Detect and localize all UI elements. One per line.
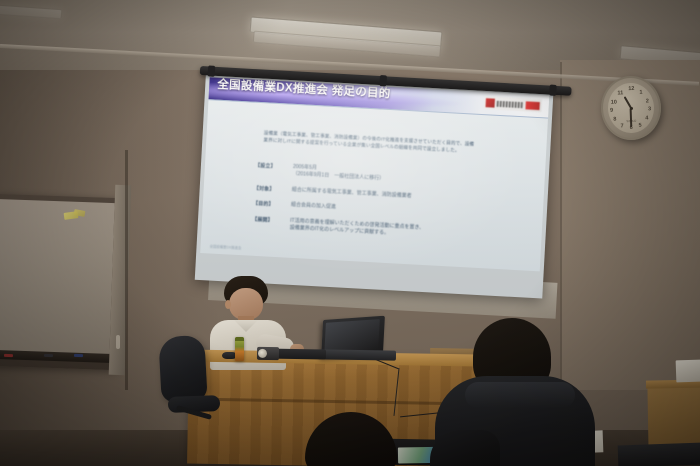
screen-bracket [208, 65, 216, 76]
projection-screen: 全国設備業DX推進会 発足の目的 設備業（電気工事業、管工事業、消防設備業）の今… [195, 72, 554, 299]
blue-marker-icon [74, 354, 83, 357]
audience-shoulder-highlight [465, 382, 575, 408]
wall-hook-icon [116, 335, 120, 349]
screen-bracket [549, 85, 557, 96]
audience-head [305, 412, 397, 466]
clock-numeral: 4 [645, 115, 648, 121]
door-edge [125, 150, 128, 390]
audience-member-lower-right [430, 430, 500, 466]
slide-row-key: 【展開】 [252, 215, 291, 231]
laptop-base [318, 349, 396, 360]
red-marker-icon [4, 354, 13, 357]
slide-footer-note: 全国設備業DX推進会 [209, 243, 241, 250]
slide-paragraph: 設備業（電気工事業、管工事業、消防設備業）の今後のIT化推進を支援させていただく… [263, 129, 478, 155]
presenter-ear [225, 300, 231, 309]
whiteboard-surface [0, 199, 115, 358]
clock-numeral: 8 [613, 117, 616, 123]
black-marker-icon [44, 354, 53, 357]
clock-face: 12 1 2 3 4 5 6 7 8 9 10 11 SEIKO [607, 82, 655, 134]
slide-row-key: 【対象】 [254, 184, 292, 193]
clock-numeral: 1 [639, 90, 642, 96]
clock-numeral: 2 [646, 98, 649, 104]
clock-numeral: 9 [610, 108, 613, 114]
slide-row-value: 2005年5月 （2016年9月1日 一般社団法人に移行） [292, 164, 504, 189]
screen-bracket [379, 75, 387, 86]
slide-row-value: 組合に所属する電気工事業、管工事業、消防設備業者 [292, 186, 504, 204]
slide-row-key: 【設立】 [254, 162, 293, 178]
slide-detail-rows: 【設立】 2005年5月 （2016年9月1日 一般社団法人に移行） 【対象】 … [251, 162, 505, 251]
clock-numeral: 12 [628, 86, 634, 92]
audience-member-center [295, 412, 415, 466]
clock-center-pin [629, 106, 632, 109]
white-object-on-cabinet [676, 360, 700, 383]
laptop-screen-glare [324, 319, 379, 353]
clock-minute-hand [630, 108, 632, 127]
slide-row-value: IT活用の意義を理解いただくための啓発活動に重点を置き、 設備業界のIT化のレベ… [290, 217, 502, 242]
slide-row: 【展開】 IT活用の意義を理解いただくための啓発活動に重点を置き、 設備業界のI… [252, 215, 502, 242]
slide-row-value: 組合会員の加入促進 [291, 202, 503, 220]
drink-bottle [235, 337, 244, 361]
clock-numeral: 11 [617, 90, 623, 96]
presentation-room-photo: 全国設備業DX推進会 発足の目的 設備業（電気工事業、管工事業、消防設備業）の今… [0, 0, 700, 466]
slide-body: 設備業（電気工事業、管工事業、消防設備業）の今後のIT化推進を支援させていただく… [200, 77, 549, 271]
clock-numeral: 3 [648, 106, 651, 112]
projector [257, 347, 279, 360]
clock-numeral: 7 [621, 123, 624, 129]
clock-numeral: 5 [639, 123, 642, 129]
bottle-cap [235, 337, 244, 341]
slide-row: 【設立】 2005年5月 （2016年9月1日 一般社団法人に移行） [254, 162, 504, 189]
clock-numeral: 10 [611, 99, 617, 105]
projector-lens-icon [258, 349, 267, 358]
book-on-desk [618, 443, 700, 466]
office-chair-back [158, 335, 207, 403]
slide-row-key: 【目的】 [253, 200, 291, 209]
